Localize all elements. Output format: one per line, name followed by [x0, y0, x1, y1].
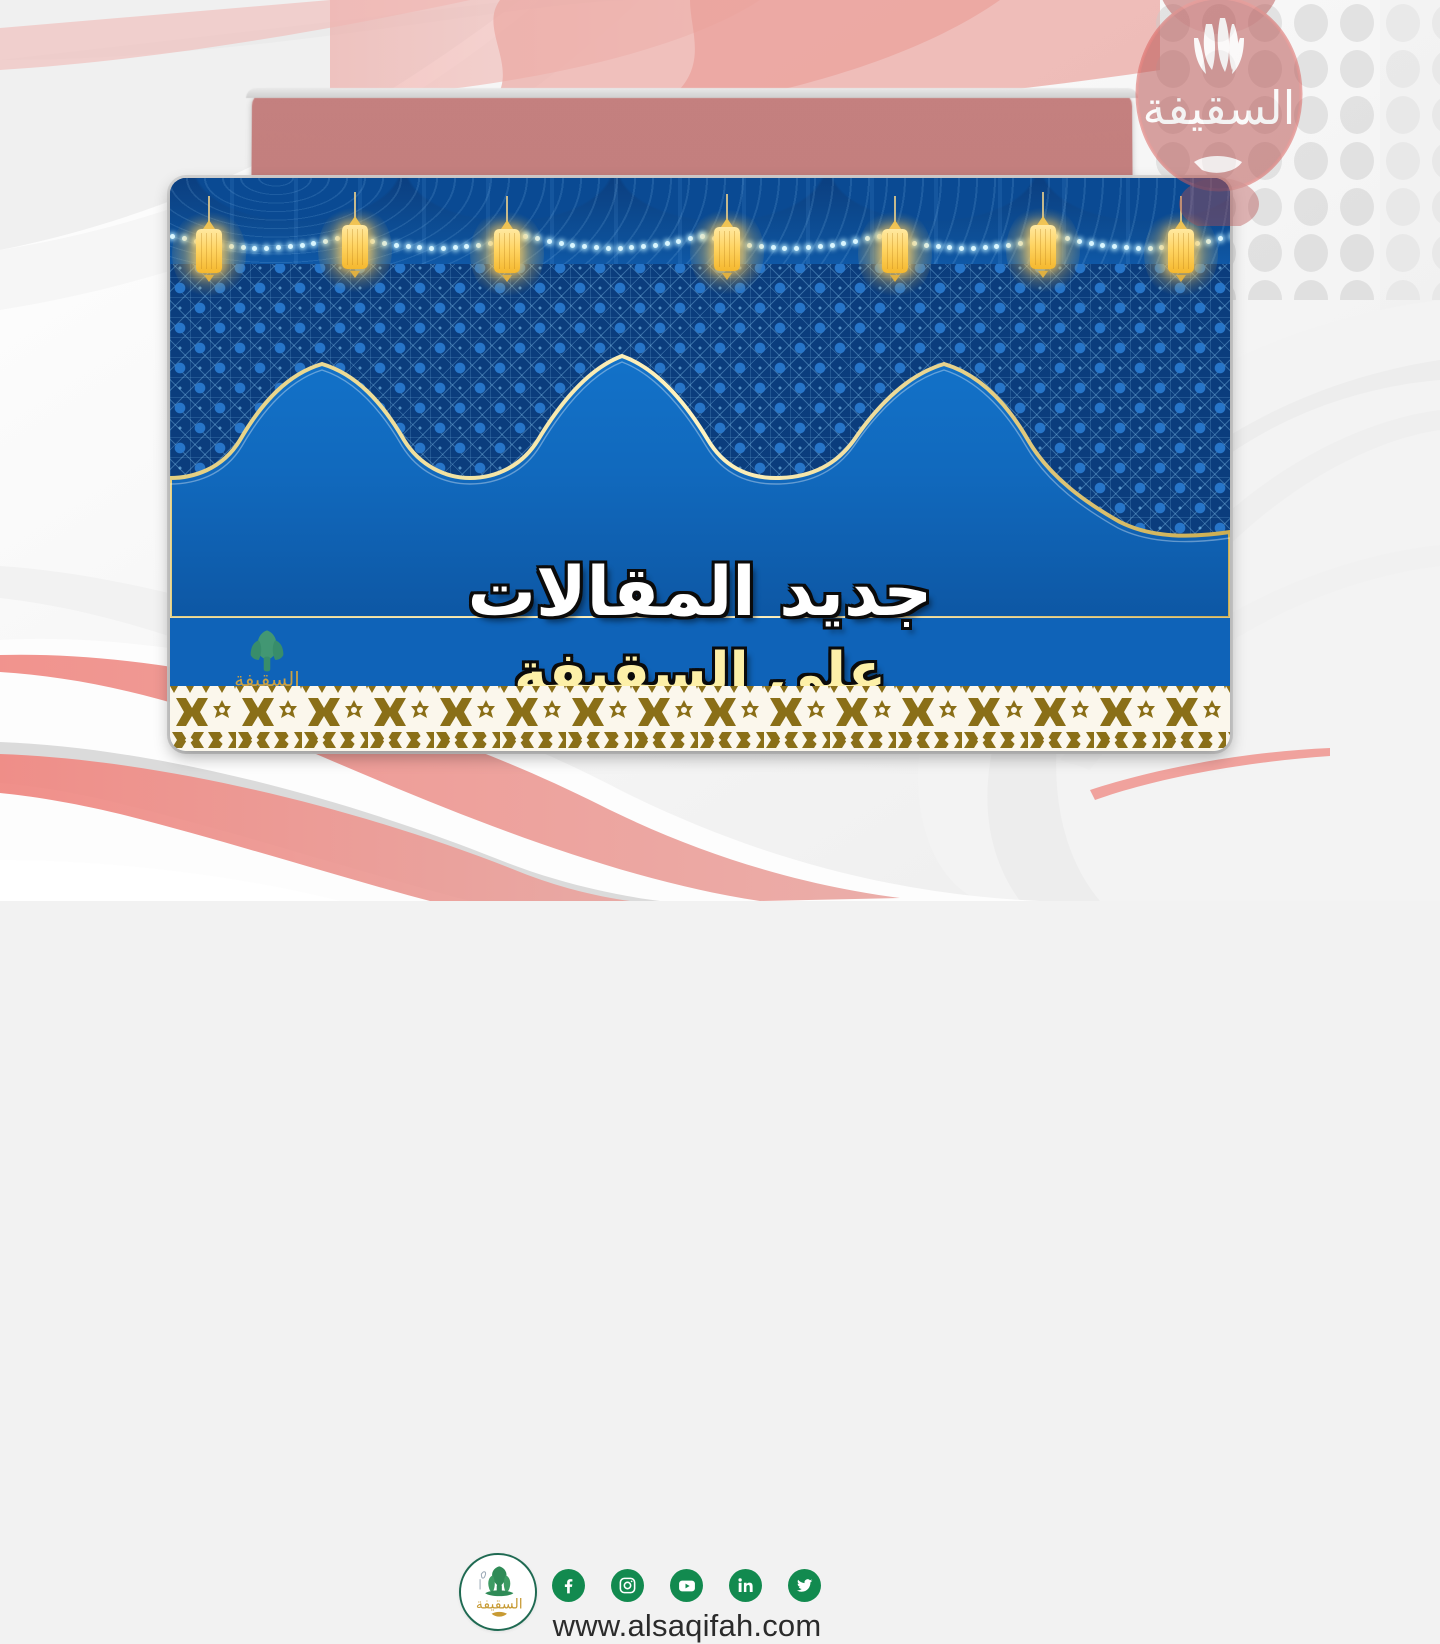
leaf-emblem-icon — [485, 1566, 513, 1596]
linkedin-icon[interactable] — [729, 1569, 762, 1602]
twitter-icon[interactable] — [788, 1569, 821, 1602]
instagram-icon[interactable] — [611, 1569, 644, 1602]
facebook-icon[interactable] — [552, 1569, 585, 1602]
banner-card[interactable]: جديد المقالات على السقيفة السقيفة — [170, 178, 1230, 751]
social-links[interactable] — [552, 1569, 821, 1602]
arch-silhouette — [170, 178, 1230, 618]
corner-badge-text: السقيفة — [1143, 81, 1296, 135]
website-url-text: www.alsaqifah.com — [553, 1608, 822, 1644]
geometric-border-pattern — [170, 686, 1230, 751]
corner-brand-watermark: السقيفة — [1124, 0, 1314, 226]
footer-logo-flourish — [480, 1572, 485, 1590]
website-url[interactable]: www.alsaqifah.com — [0, 1608, 1440, 1644]
youtube-icon[interactable] — [670, 1569, 703, 1602]
card-watermark-logo: السقيفة — [226, 614, 308, 696]
bottom-geometric-border — [170, 686, 1230, 751]
footer: السقيفة www.alsaqifah.com — [0, 772, 1440, 892]
